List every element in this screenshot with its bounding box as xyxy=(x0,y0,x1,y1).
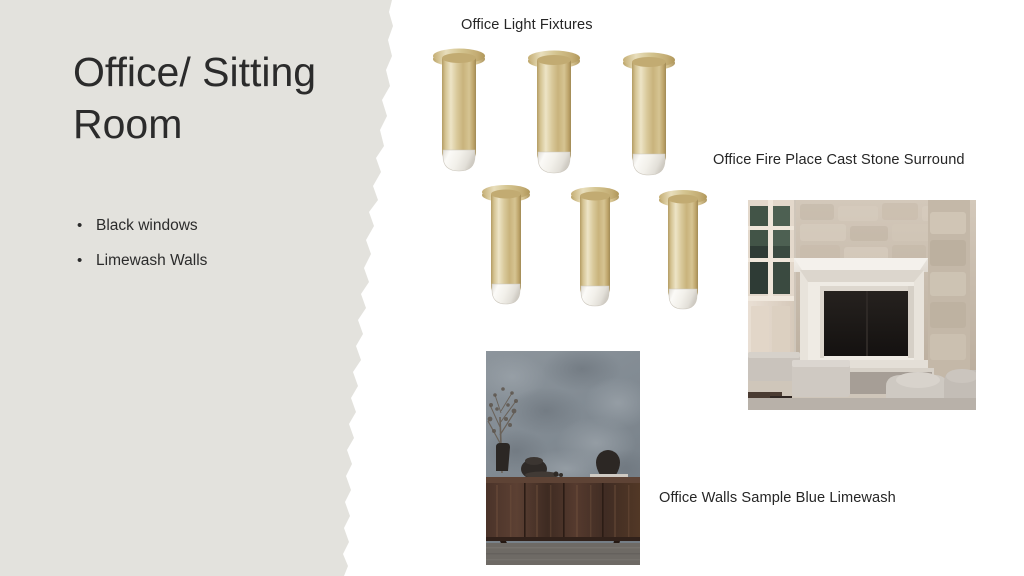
caption-light-fixtures: Office Light Fixtures xyxy=(461,17,593,33)
list-item: • Black windows xyxy=(74,218,354,234)
glass-diffuser xyxy=(538,152,570,173)
fixture-body xyxy=(537,60,571,160)
body-top-rim xyxy=(442,53,476,63)
light-fixture xyxy=(622,48,676,176)
glass-diffuser xyxy=(443,150,475,171)
firebox xyxy=(820,286,914,358)
fixture-body xyxy=(491,194,521,292)
list-item: • Limewash Walls xyxy=(74,253,354,269)
right-stone-pillar xyxy=(928,200,970,380)
body-top-rim xyxy=(580,192,610,201)
fixture-body xyxy=(442,58,476,158)
bullet-marker: • xyxy=(77,218,82,233)
glass-diffuser xyxy=(581,286,609,306)
office-limewash-sample-photo xyxy=(486,351,640,565)
body-top-rim xyxy=(668,195,698,204)
bullet-marker: • xyxy=(77,253,82,268)
fixture-body xyxy=(668,199,698,297)
light-fixture xyxy=(481,181,531,305)
light-fixture xyxy=(570,183,620,307)
floor xyxy=(748,398,976,410)
vase xyxy=(496,443,510,471)
sideboard-seam xyxy=(602,483,604,539)
body-top-rim xyxy=(491,190,521,199)
light-fixture xyxy=(432,44,486,172)
fixture-body xyxy=(632,62,666,162)
sideboard-seam xyxy=(563,483,565,539)
list-item-label: Limewash Walls xyxy=(96,252,207,269)
body-top-rim xyxy=(632,57,666,67)
body-top-rim xyxy=(537,55,571,65)
glass-cabinet xyxy=(748,200,794,300)
light-fixture xyxy=(658,186,708,310)
caption-limewash: Office Walls Sample Blue Limewash xyxy=(659,490,896,506)
bullet-list: • Black windows • Limewash Walls xyxy=(74,218,354,287)
glass-diffuser xyxy=(492,284,520,304)
page-title: Office/ Sitting Room xyxy=(73,46,373,151)
caption-fireplace: Office Fire Place Cast Stone Surround xyxy=(713,152,965,168)
office-fireplace-photo xyxy=(748,200,976,410)
fixture-body xyxy=(580,196,610,294)
list-item-label: Black windows xyxy=(96,217,198,234)
ottoman-center xyxy=(792,360,850,397)
glass-diffuser xyxy=(669,289,697,309)
sideboard-seam xyxy=(524,483,526,539)
glass-diffuser xyxy=(633,154,665,175)
light-fixture xyxy=(527,46,581,174)
